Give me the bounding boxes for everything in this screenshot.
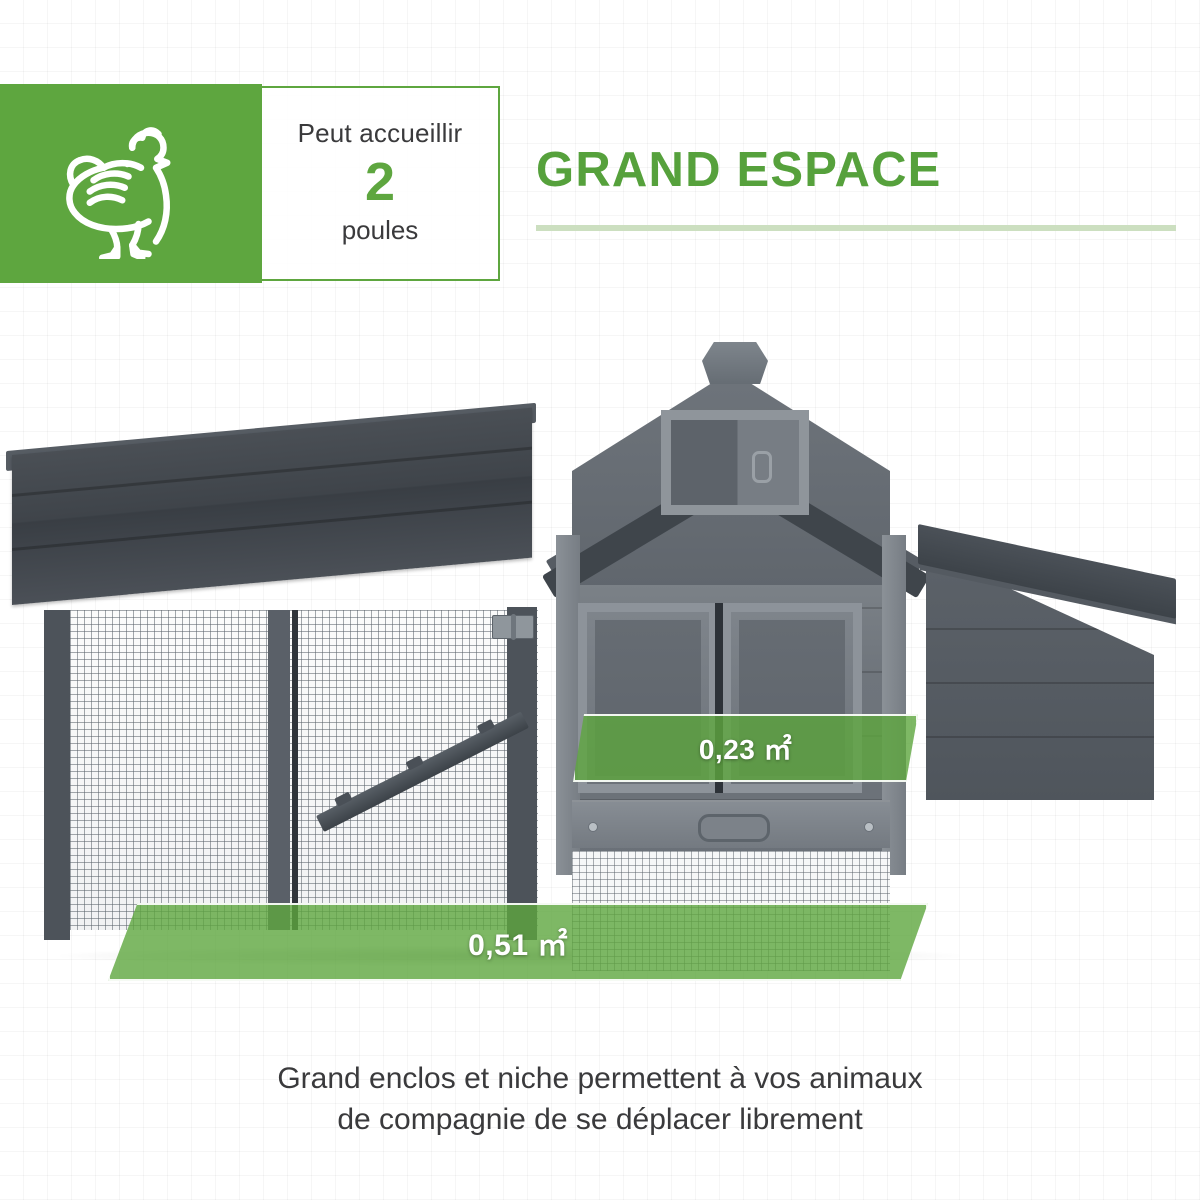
screw [588,822,598,832]
area-overlay-outdoor-run: 0,51 ㎡ [108,903,928,981]
wall-seam [926,682,1154,684]
caption-line-1: Grand enclos et niche permettent à vos a… [0,1058,1200,1099]
attic-window-handle[interactable] [752,451,772,483]
drawer-handle[interactable] [698,814,770,842]
capacity-count: 2 [365,151,395,213]
area-overlay-nesting-house: 0,23 ㎡ [573,714,918,782]
attic-window-pane [671,420,799,505]
capacity-unit: poules [342,216,419,245]
run-roof [12,408,532,605]
roof-ridge-cap [702,342,768,384]
page-title: GRAND ESPACE [536,146,942,195]
hen-icon [56,109,206,259]
capacity-card: Peut accueillir 2 poules [262,86,500,281]
capacity-badge: Peut accueillir 2 poules [0,84,500,283]
side-nesting-box [918,510,1186,820]
attic-window[interactable] [661,410,809,515]
nesting-house [516,285,946,875]
badge-icon-panel [0,84,262,283]
title-underline-rule [536,225,1176,231]
caption-line-2: de compagnie de se déplacer librement [0,1099,1200,1140]
run-post-left [44,610,70,940]
run-wire-mesh [44,610,538,930]
screw [864,822,874,832]
nesting-tray-drawer[interactable] [572,800,890,848]
run-post-middle [268,610,290,930]
wall-seam [926,736,1154,738]
product-photo: 0,23 ㎡ 0,51 ㎡ [0,255,1200,1045]
caption: Grand enclos et niche permettent à vos a… [0,1058,1200,1141]
wall-seam [926,628,1154,630]
run-door-edge [292,610,298,930]
capacity-label: Peut accueillir [298,119,463,148]
